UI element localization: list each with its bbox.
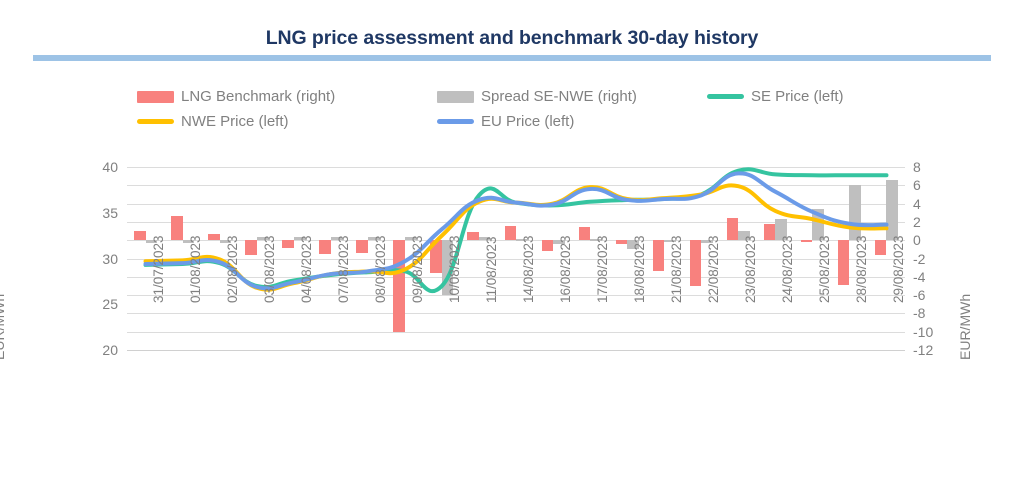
legend-item-nwe-price[interactable]: NWE Price (left) [137,113,437,130]
y-tick-right: -12 [913,343,947,357]
legend-swatch-bar-icon [437,91,474,103]
x-tick-label: 24/08/2023 [780,235,795,303]
x-tick-label: 08/08/2023 [373,235,388,303]
y-tick-right: -6 [913,288,947,302]
legend-swatch-bar-icon [137,91,174,103]
y-tick-right: -2 [913,252,947,266]
x-tick-label: 25/08/2023 [817,235,832,303]
y-tick-right: 2 [913,215,947,229]
y-tick-right: -4 [913,270,947,284]
y-tick-left: 25 [80,297,118,311]
y-tick-left: 40 [80,160,118,174]
x-tick-label: 02/08/2023 [225,235,240,303]
legend-swatch-line-icon [137,119,174,124]
legend-row-2: NWE Price (left) EU Price (left) [137,109,917,134]
x-tick-label: 31/07/2023 [151,235,166,303]
x-tick-label: 01/08/2023 [188,235,203,303]
x-tick-label: 21/08/2023 [669,235,684,303]
legend-item-eu-price[interactable]: EU Price (left) [437,113,707,130]
y-tick-left: 30 [80,252,118,266]
legend-swatch-line-icon [707,94,744,99]
legend-label: SE Price (left) [751,88,844,105]
y-tick-left: 35 [80,206,118,220]
x-tick-label: 03/08/2023 [262,235,277,303]
legend-label: EU Price (left) [481,113,574,130]
legend-item-spread-se-nwe[interactable]: Spread SE-NWE (right) [437,88,707,105]
x-tick-label: 11/08/2023 [484,236,499,303]
x-tick-label: 18/08/2023 [632,235,647,303]
legend-item-se-price[interactable]: SE Price (left) [707,88,917,105]
x-tick-label: 29/08/2023 [891,235,906,303]
legend-row-1: LNG Benchmark (right) Spread SE-NWE (rig… [137,84,917,109]
x-axis-line [127,350,905,351]
x-tick-label: 28/08/2023 [854,235,869,303]
page-title: LNG price assessment and benchmark 30-da… [0,27,1024,50]
x-tick-label: 14/08/2023 [521,235,536,303]
x-tick-label: 17/08/2023 [595,235,610,303]
x-tick-label: 22/08/2023 [706,235,721,303]
y-tick-right: -8 [913,306,947,320]
x-tick-label: 16/08/2023 [558,235,573,303]
y-tick-left: 20 [80,343,118,357]
y-axis-right-label: EUR/MWh [957,294,973,360]
y-tick-right: 8 [913,160,947,174]
legend-label: LNG Benchmark (right) [181,88,335,105]
title-underline-rule [33,55,991,61]
chart-legend: LNG Benchmark (right) Spread SE-NWE (rig… [137,84,917,134]
x-tick-label: 23/08/2023 [743,235,758,303]
legend-swatch-line-icon [437,119,474,124]
y-axis-left-label: EUR/MWh [0,294,7,360]
legend-label: NWE Price (left) [181,113,289,130]
x-axis-labels: 31/07/202301/08/202302/08/202303/08/2023… [127,205,905,315]
y-tick-right: 4 [913,197,947,211]
chart-page: LNG price assessment and benchmark 30-da… [0,0,1024,485]
legend-label: Spread SE-NWE (right) [481,88,637,105]
x-tick-label: 10/08/2023 [447,235,462,303]
x-tick-label: 04/08/2023 [299,235,314,303]
x-tick-label: 07/08/2023 [336,235,351,303]
y-tick-right: 6 [913,178,947,192]
x-tick-label: 09/08/2023 [410,235,425,303]
y-tick-right: 0 [913,233,947,247]
legend-item-lng-benchmark[interactable]: LNG Benchmark (right) [137,88,437,105]
y-tick-right: -10 [913,325,947,339]
